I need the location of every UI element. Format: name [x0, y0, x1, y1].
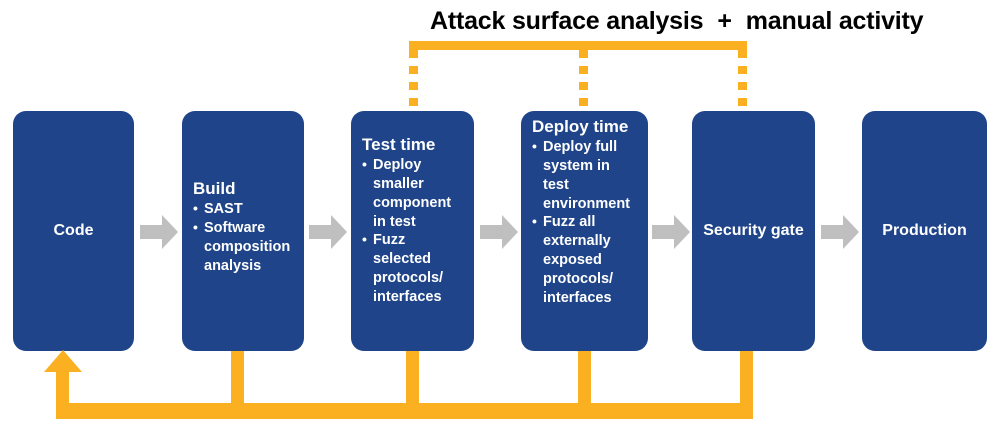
stage-box-deploy-time[interactable]: Deploy time Deploy full system in test e…	[521, 111, 648, 351]
list-item: Deploy full system in test environment	[532, 138, 637, 213]
stage-list-test-time: Deploy smaller component in test Fuzz se…	[362, 156, 463, 307]
stage-list-build: SAST Software composition analysis	[193, 200, 293, 275]
list-item: SAST	[193, 200, 293, 219]
stage-box-security-gate[interactable]: Security gate	[692, 111, 815, 351]
feedback-drop-build	[231, 351, 244, 403]
annotation-title-part2: manual activity	[746, 7, 924, 36]
flow-arrow-code-to-build	[140, 214, 178, 250]
stage-title-test-time: Test time	[362, 135, 463, 154]
flow-arrow-security-gate-to-production	[821, 214, 859, 250]
annotation-title: Attack surface analysis + manual activit…	[430, 4, 990, 38]
feedback-riser-code	[56, 370, 69, 410]
diagram-canvas: Attack surface analysis + manual activit…	[0, 0, 1000, 433]
annotation-title-plus: +	[717, 7, 731, 36]
annotation-horizontal-bar	[409, 41, 747, 50]
stage-title-deploy-time: Deploy time	[532, 117, 637, 136]
stage-title-production: Production	[873, 222, 976, 240]
stage-title-build: Build	[193, 179, 293, 198]
stage-box-code[interactable]: Code	[13, 111, 134, 351]
list-item: Fuzz all externally exposed protocols/ i…	[532, 213, 637, 307]
stage-title-security-gate: Security gate	[703, 222, 804, 240]
stage-box-build[interactable]: Build SAST Software composition analysis	[182, 111, 304, 351]
stage-box-production[interactable]: Production	[862, 111, 987, 351]
stage-title-code: Code	[24, 222, 123, 240]
stage-list-deploy-time: Deploy full system in test environment F…	[532, 138, 637, 308]
list-item: Deploy smaller component in test	[362, 156, 463, 231]
flow-arrow-test-time-to-deploy-time	[480, 214, 518, 250]
connector-dashed-deploy-time	[579, 50, 588, 112]
feedback-drop-security-gate	[740, 351, 753, 403]
flow-arrow-deploy-time-to-security-gate	[652, 214, 690, 250]
annotation-title-part1: Attack surface analysis	[430, 7, 703, 36]
list-item: Software composition analysis	[193, 219, 293, 276]
list-item: Fuzz selected protocols/ interfaces	[362, 231, 463, 306]
connector-dashed-test-time	[409, 50, 418, 112]
feedback-horizontal-bar	[56, 403, 753, 419]
stage-box-test-time[interactable]: Test time Deploy smaller component in te…	[351, 111, 474, 351]
feedback-drop-test-time	[406, 351, 419, 403]
connector-dashed-security-gate	[738, 50, 747, 112]
flow-arrow-build-to-test-time	[309, 214, 347, 250]
feedback-drop-deploy-time	[578, 351, 591, 403]
